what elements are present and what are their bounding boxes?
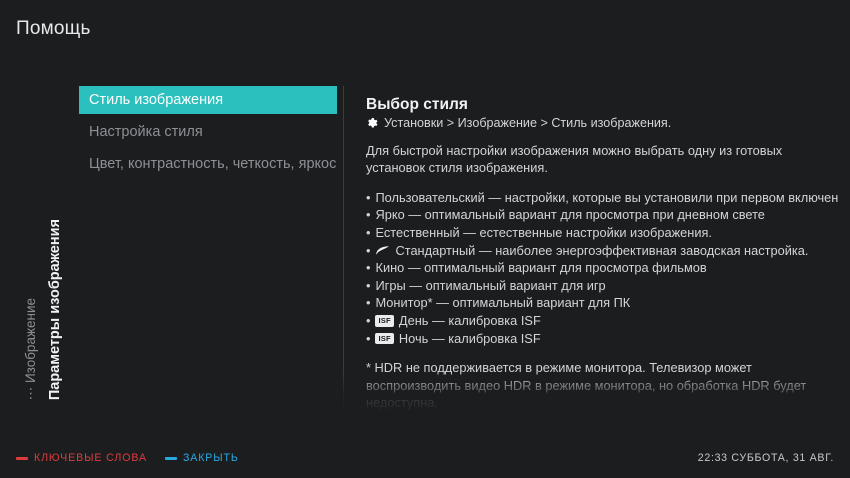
help-screen: Помощь ⋯ Изображение Параметры изображен… <box>0 0 850 478</box>
bullet-dot: • <box>366 242 370 260</box>
menu-item-style-adjust[interactable]: Настройка стиля <box>79 118 337 146</box>
list-item: • Пользовательский — настройки, которые … <box>366 189 838 207</box>
help-content-panel: Выбор стиля Установки > Изображение > Ст… <box>366 96 838 416</box>
intro-paragraph: Для быстрой настройки изображения можно … <box>366 142 838 177</box>
bullet-dot: • <box>366 277 370 295</box>
list-item: • Игры — оптимальный вариант для игр <box>366 277 838 295</box>
breadcrumb-rail: ⋯ Изображение Параметры изображения <box>8 70 70 400</box>
keyword-button[interactable]: КЛЮЧЕВЫЕ СЛОВА <box>16 452 147 464</box>
breadcrumb-parent[interactable]: ⋯ Изображение <box>24 298 38 400</box>
settings-path-text: Установки > Изображение > Стиль изображе… <box>384 116 671 130</box>
gear-icon <box>366 117 378 129</box>
menu-item-picture-style[interactable]: Стиль изображения <box>79 86 337 114</box>
bottom-bar: КЛЮЧЕВЫЕ СЛОВА ЗАКРЫТЬ 22:33 СУББОТА, 31… <box>0 444 850 478</box>
close-button[interactable]: ЗАКРЫТЬ <box>165 452 239 464</box>
content-heading: Выбор стиля <box>366 96 838 114</box>
list-item-label: Кино — оптимальный вариант для просмотра… <box>375 259 706 277</box>
list-item-label: Пользовательский — настройки, которые вы… <box>375 189 838 207</box>
list-item: • Кино — оптимальный вариант для просмот… <box>366 259 838 277</box>
bullet-dot: • <box>366 312 370 330</box>
list-item-label: Стандартный — наиболее энергоэффективная… <box>395 242 808 260</box>
bullet-dot: • <box>366 259 370 277</box>
list-item: • Стандартный — наиболее энергоэффективн… <box>366 242 838 260</box>
style-options-list: • Пользовательский — настройки, которые … <box>366 189 838 348</box>
bullet-dot: • <box>366 330 370 348</box>
close-button-label: ЗАКРЫТЬ <box>183 452 239 464</box>
list-item-label: Естественный — естественные настройки из… <box>375 224 712 242</box>
blue-key-icon <box>165 457 177 460</box>
bullet-dot: • <box>366 206 370 224</box>
breadcrumb-current: Параметры изображения <box>48 219 63 400</box>
list-item: • Естественный — естественные настройки … <box>366 224 838 242</box>
help-topic-list[interactable]: Стиль изображения Настройка стиля Цвет, … <box>79 86 337 416</box>
hdr-note-paragraph: * HDR не поддерживается в режиме монитор… <box>366 359 838 411</box>
menu-item-color-contrast[interactable]: Цвет, контрастность, четкость, яркос <box>79 150 337 178</box>
list-item: • ISF День — калибровка ISF <box>366 312 838 330</box>
list-item-label: Ярко — оптимальный вариант для просмотра… <box>375 206 764 224</box>
list-item-label: День — калибровка ISF <box>399 312 541 330</box>
list-item: • ISF Ночь — калибровка ISF <box>366 330 838 348</box>
list-item-label: Ночь — калибровка ISF <box>399 330 541 348</box>
bullet-dot: • <box>366 294 370 312</box>
red-key-icon <box>16 457 28 460</box>
list-item: • Монитор* — оптимальный вариант для ПК <box>366 294 838 312</box>
list-item: • Ярко — оптимальный вариант для просмот… <box>366 206 838 224</box>
page-title: Помощь <box>16 18 91 40</box>
leaf-icon <box>375 245 390 256</box>
key-hints: КЛЮЧЕВЫЕ СЛОВА ЗАКРЫТЬ <box>16 452 239 464</box>
settings-path-row: Установки > Изображение > Стиль изображе… <box>366 116 838 130</box>
isf-badge: ISF <box>375 315 393 327</box>
bullet-dot: • <box>366 189 370 207</box>
isf-badge: ISF <box>375 333 393 345</box>
clock: 22:33 СУББОТА, 31 АВГ. <box>698 452 834 464</box>
list-item-label: Монитор* — оптимальный вариант для ПК <box>375 294 630 312</box>
keyword-button-label: КЛЮЧЕВЫЕ СЛОВА <box>34 452 147 464</box>
bullet-dot: • <box>366 224 370 242</box>
panel-divider <box>343 86 344 416</box>
list-item-label: Игры — оптимальный вариант для игр <box>375 277 605 295</box>
